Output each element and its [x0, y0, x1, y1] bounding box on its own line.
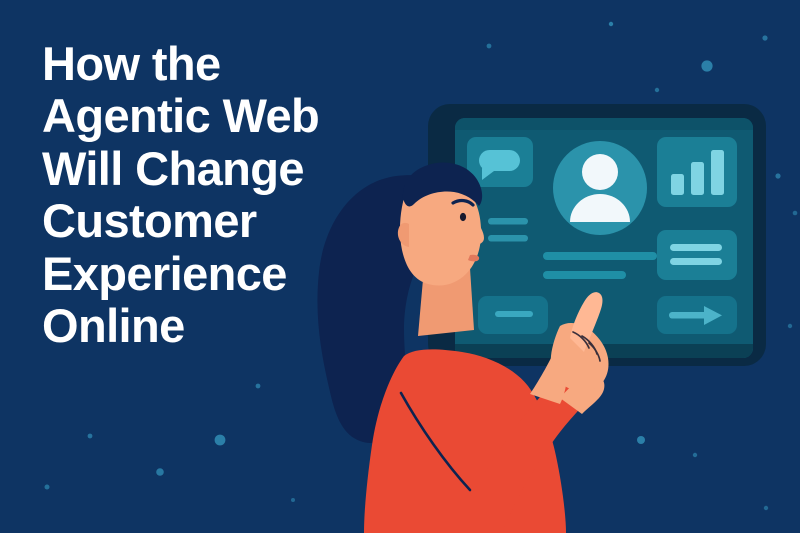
button-card-left [478, 296, 548, 334]
avatar-widget [553, 141, 647, 235]
arrow-button-card [657, 296, 737, 334]
eye [460, 213, 466, 221]
illustration-canvas: How the Agentic Web Will Change Customer… [0, 0, 800, 533]
bar-chart-card [657, 137, 737, 207]
list-card [657, 230, 737, 280]
scene-illustration [0, 0, 800, 533]
